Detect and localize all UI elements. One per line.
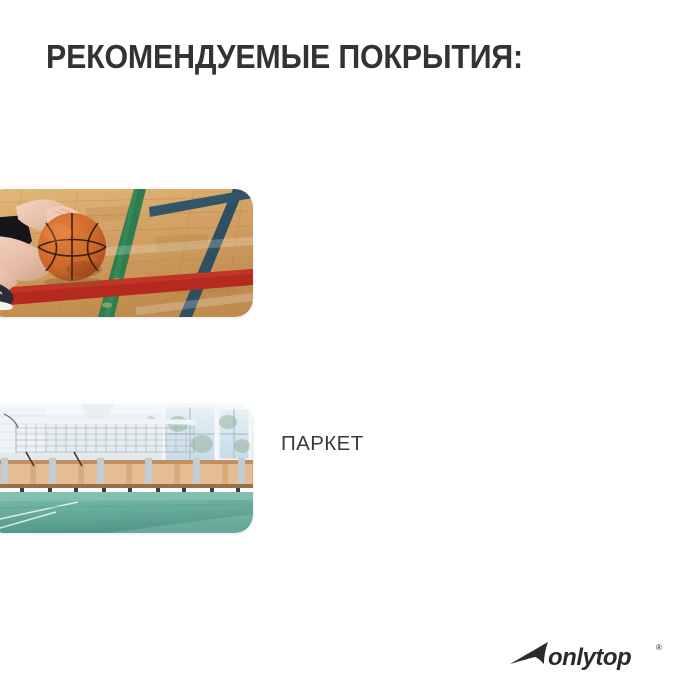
slide-root: РЕКОМЕНДУЕМЫЕ ПОКРЫТИЯ: — [0, 0, 700, 700]
coverage-caption-parquet: ПАРКЕТ — [281, 429, 364, 458]
caption-line-1: ПАРКЕТ — [281, 429, 364, 458]
basketball-on-parquet-court-photo — [0, 189, 253, 317]
svg-text:®: ® — [656, 643, 662, 652]
page-title: РЕКОМЕНДУЕМЫЕ ПОКРЫТИЯ: — [46, 38, 523, 76]
gymnasium-pvc-linoleum-floor-photo — [0, 404, 253, 533]
svg-text:onlytop: onlytop — [548, 644, 631, 671]
onlytop-arrow-mark — [510, 642, 548, 664]
brand-logo: onlytop ® — [508, 640, 668, 674]
